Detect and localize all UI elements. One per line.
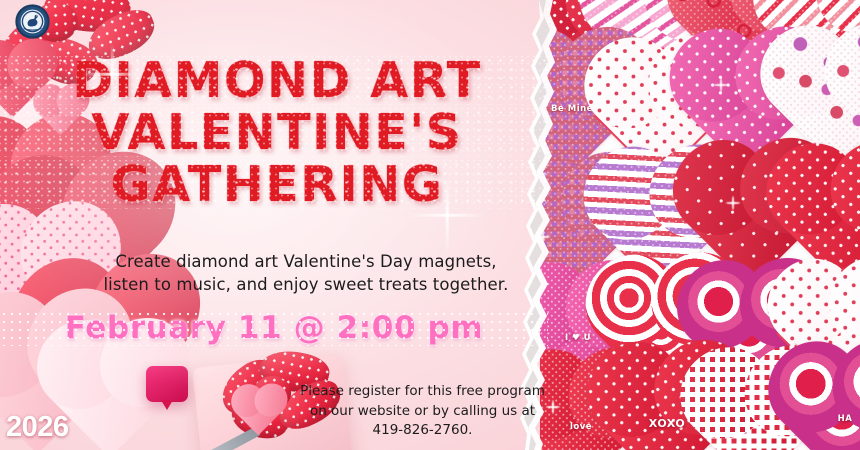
title-text-2: VALENTINE'S [91, 104, 462, 161]
page-title-line-2: VALENTINE'S [0, 108, 548, 157]
title-text-1: DIAMOND ART [72, 52, 481, 109]
library-seal-bird-icon [14, 4, 51, 39]
year-badge: 2026 [6, 411, 69, 444]
event-date-time: February 11 @ 2:00 pm [0, 310, 548, 346]
magnet-item [796, 176, 860, 264]
title-text-3: GATHERING [111, 156, 444, 213]
page-title-line-3: GATHERING [0, 160, 548, 209]
valentine-event-poster: Be Mine I ♥ U [0, 0, 860, 450]
heart-notification-icon [146, 366, 188, 402]
page-title-line-1: DIAMOND ART [0, 56, 548, 105]
event-description: Create diamond art Valentine's Day magne… [96, 250, 516, 296]
heart-magnet-collage: Be Mine I ♥ U [540, 0, 860, 450]
registration-info: Please register for this free program on… [300, 382, 545, 441]
magnet-item: HA [798, 374, 860, 450]
magnet-label: HA [798, 414, 860, 424]
magnet-item [790, 58, 860, 146]
arrow-heart-tip [242, 396, 276, 428]
date-time-text: February 11 @ 2:00 pm [65, 310, 483, 346]
